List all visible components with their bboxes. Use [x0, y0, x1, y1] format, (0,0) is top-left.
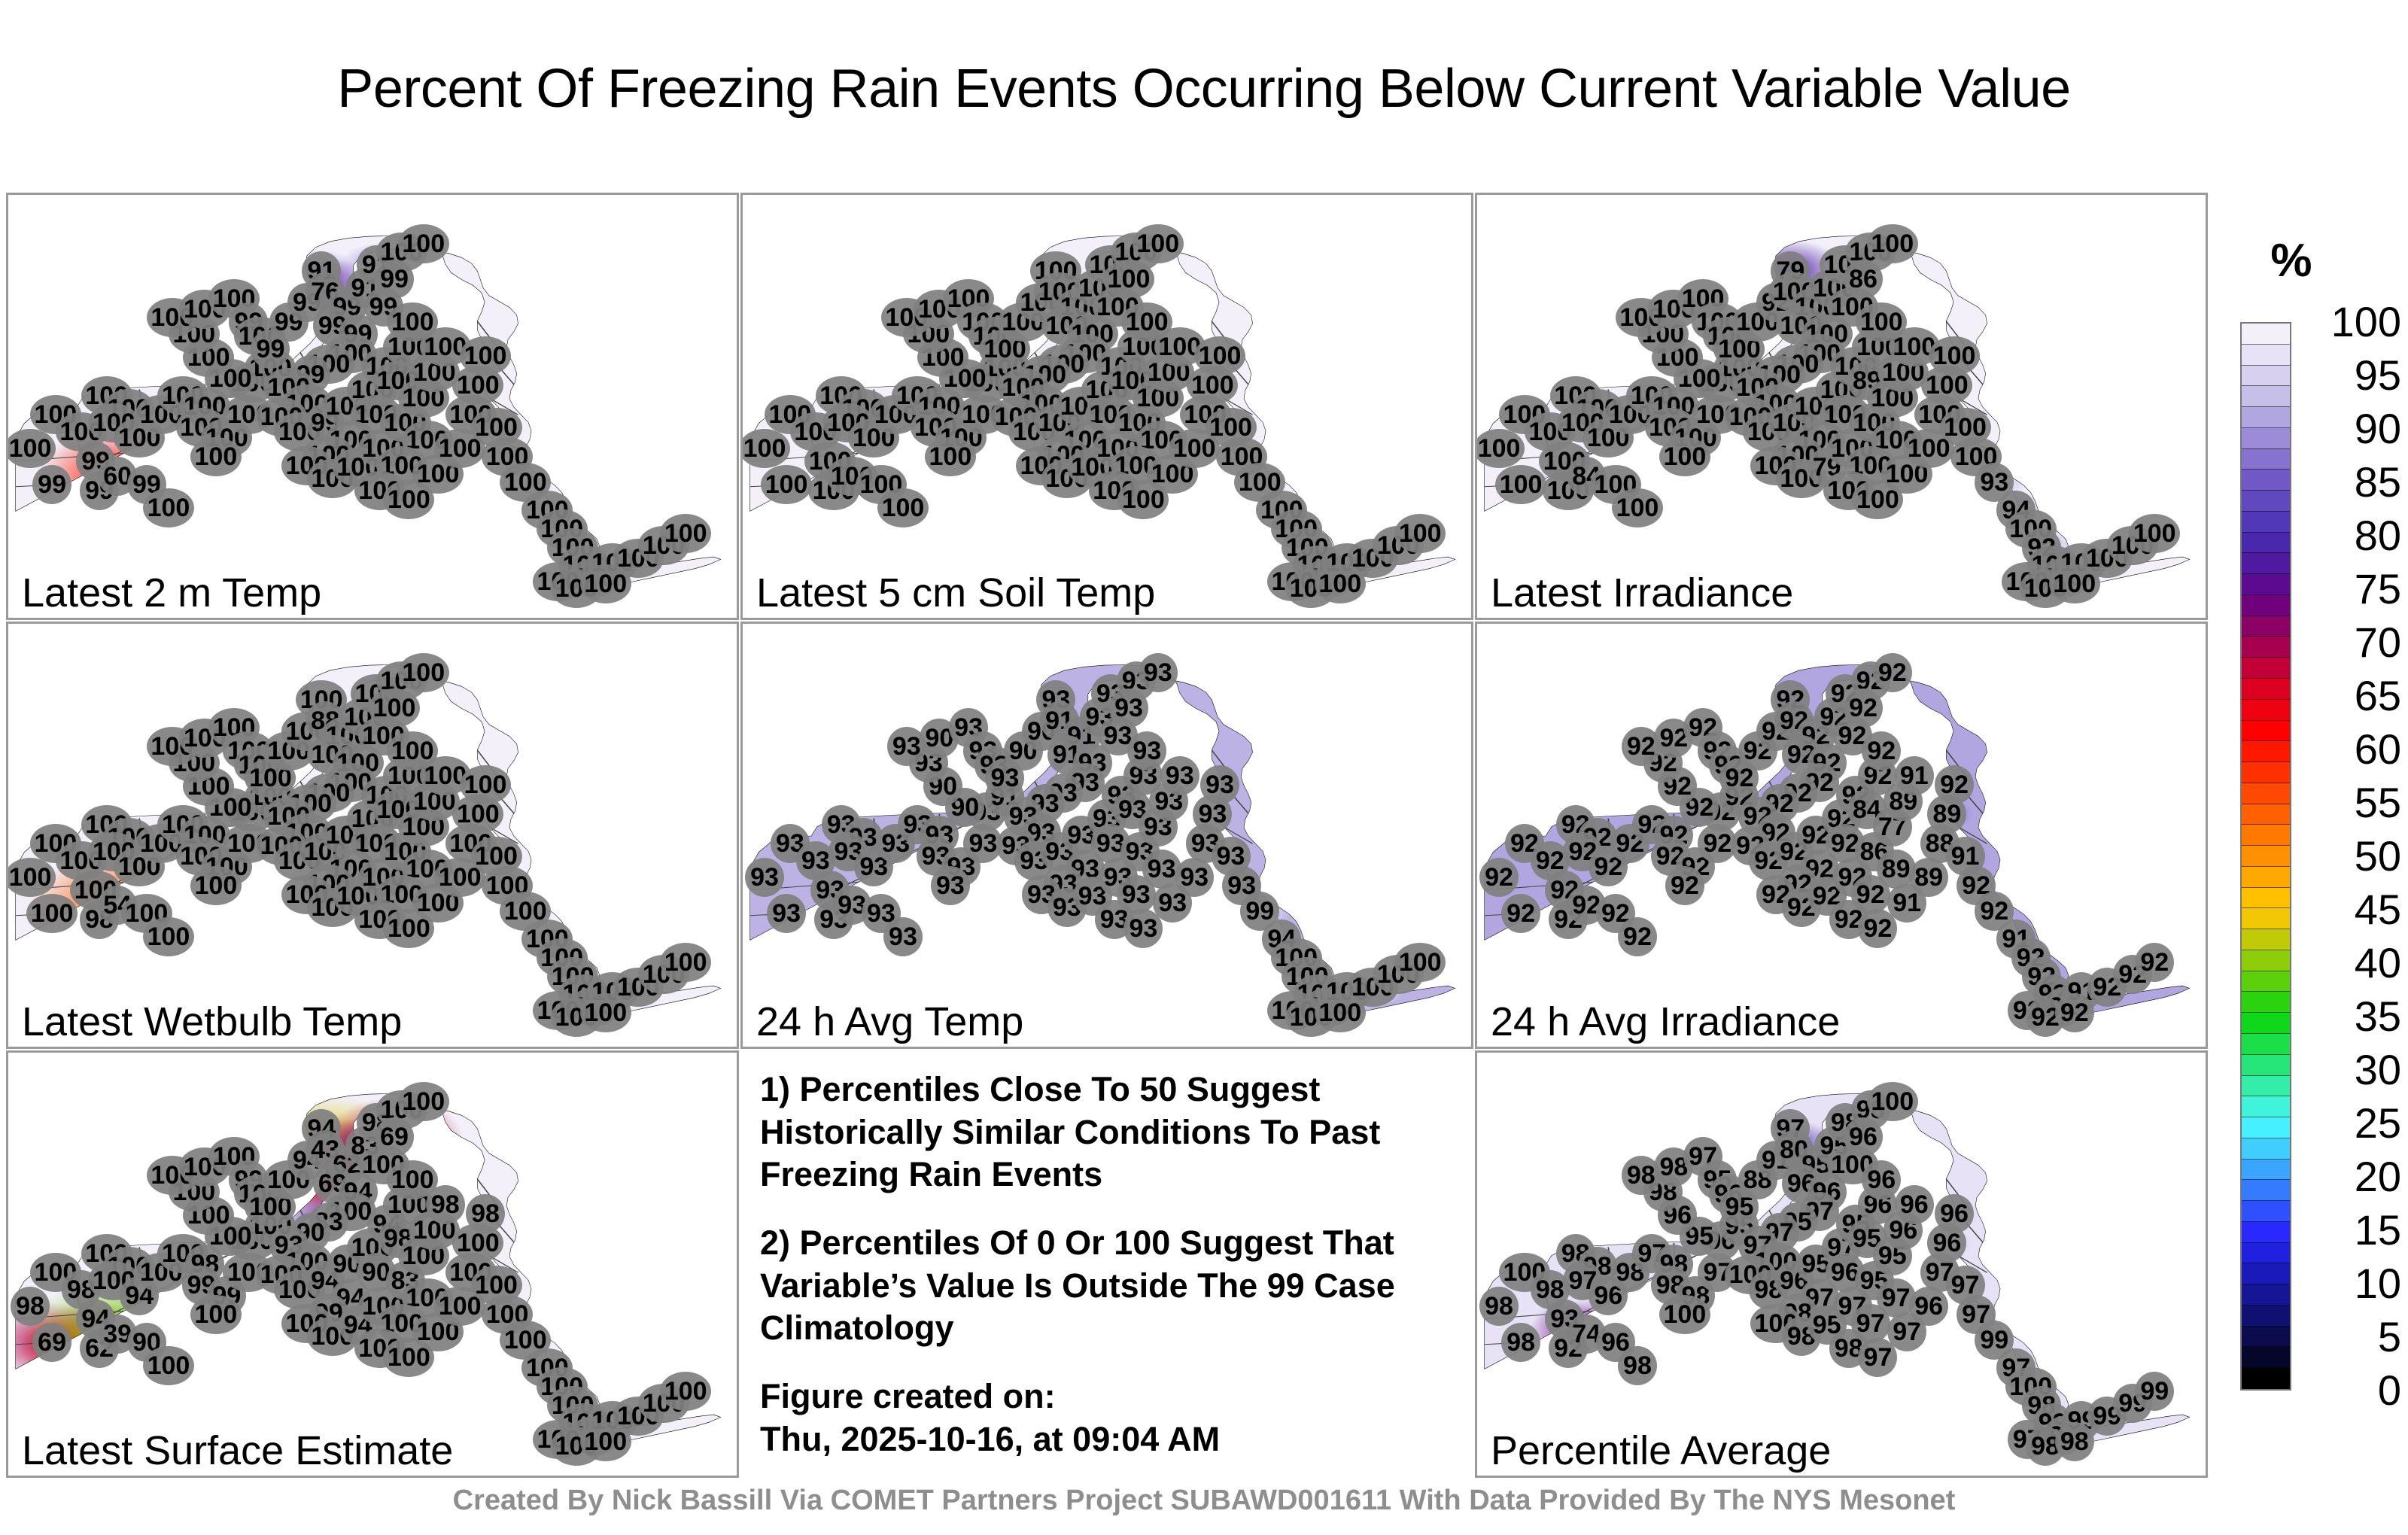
- station-marker[interactable]: 100: [190, 1295, 242, 1334]
- map-canvas: 9393939393939393939393939393939393939393…: [743, 624, 1471, 1047]
- station-marker[interactable]: 100: [660, 943, 711, 982]
- station-marker[interactable]: 100: [1315, 564, 1366, 603]
- station-marker[interactable]: 100: [740, 429, 790, 468]
- colorbar-segment: [2242, 366, 2290, 387]
- station-marker[interactable]: 100: [1495, 465, 1546, 504]
- colorbar-segment: [2242, 992, 2290, 1013]
- panel-title-latest-2m-temp: Latest 2 m Temp: [22, 573, 321, 613]
- station-marker[interactable]: 92: [1618, 917, 1657, 956]
- colorbar-tick: 60: [2355, 728, 2401, 771]
- station-marker[interactable]: 100: [580, 1422, 631, 1461]
- panel-title-latest-irradiance: Latest Irradiance: [1491, 573, 1793, 613]
- colorbar-segment: [2242, 658, 2290, 679]
- station-marker[interactable]: 100: [660, 514, 711, 553]
- colorbar-tick: 100: [2331, 301, 2401, 343]
- station-marker[interactable]: 99: [2135, 1372, 2174, 1411]
- map-canvas: 1001001001001001001001001001001001001001…: [743, 195, 1471, 618]
- panel-title-24h-avg-irradiance: 24 h Avg Irradiance: [1491, 1002, 1840, 1042]
- station-marker[interactable]: 100: [460, 765, 511, 804]
- colorbar-segment: [2242, 1243, 2290, 1264]
- station-marker[interactable]: 98: [466, 1194, 505, 1233]
- colorbar-segment: [2242, 1180, 2290, 1201]
- station-marker[interactable]: 92: [1479, 858, 1519, 897]
- colorbar-segment: [2242, 950, 2290, 971]
- colorbar-segment: [2242, 700, 2290, 721]
- colorbar-tick: 20: [2355, 1156, 2401, 1198]
- figure-created-block: Figure created on: Thu, 2025-10-16, at 0…: [760, 1375, 1455, 1461]
- colorbar-segment: [2242, 1138, 2290, 1160]
- map-panel-latest-5cm-soil-temp[interactable]: 1001001001001001001001001001001001001001…: [740, 193, 1473, 620]
- station-marker[interactable]: 92: [2135, 943, 2174, 982]
- colorbar-segment: [2242, 888, 2290, 909]
- colorbar-tick: 95: [2355, 354, 2401, 397]
- colorbar-segment: [2242, 1160, 2290, 1181]
- colorbar-segment: [2242, 533, 2290, 554]
- colorbar-tick: 65: [2355, 675, 2401, 717]
- map-canvas: 9292929292929292929292929292929292929292…: [1477, 624, 2206, 1047]
- station-marker[interactable]: 93: [1160, 756, 1199, 795]
- station-marker[interactable]: 93: [931, 866, 970, 905]
- colorbar-tick: 50: [2355, 835, 2401, 877]
- station-marker[interactable]: 98: [1618, 1346, 1657, 1385]
- station-marker[interactable]: 100: [26, 894, 78, 933]
- map-panel-percentile-average[interactable]: 9810098989897969897939892749698989898100…: [1475, 1050, 2208, 1478]
- station-marker[interactable]: 100: [1867, 224, 1918, 263]
- map-panel-latest-wetbulb-temp[interactable]: 1001001001001001001001001001001009854100…: [6, 622, 739, 1049]
- note-1: 1) Percentiles Close To 50 Suggest Histo…: [760, 1068, 1455, 1196]
- station-marker[interactable]: 100: [1394, 514, 1446, 553]
- colorbar-tick: 40: [2355, 942, 2401, 984]
- station-marker[interactable]: 100: [1612, 488, 1663, 527]
- figure-root: Percent Of Freezing Rain Events Occurrin…: [0, 0, 2408, 1535]
- colorbar-segment: [2242, 1055, 2290, 1076]
- colorbar-segment: [2242, 1013, 2290, 1034]
- station-marker[interactable]: 100: [143, 1346, 194, 1385]
- station-marker[interactable]: 100: [143, 917, 194, 956]
- colorbar-segment: [2242, 867, 2290, 888]
- station-marker[interactable]: 100: [1659, 1295, 1710, 1334]
- colorbar-tick: 35: [2355, 995, 2401, 1038]
- station-marker[interactable]: 98: [1479, 1287, 1519, 1326]
- station-marker[interactable]: 92: [1665, 866, 1704, 905]
- station-marker[interactable]: 69: [32, 1323, 71, 1362]
- colorbar-segment: [2242, 1034, 2290, 1055]
- colorbar-tick: 90: [2355, 408, 2401, 450]
- map-canvas: 9810098100100100941001009469623990100989…: [8, 1053, 737, 1476]
- colorbar-segment: [2242, 908, 2290, 929]
- station-marker[interactable]: 93: [1175, 858, 1214, 897]
- colorbar-segment: [2242, 491, 2290, 512]
- colorbar-tick: 85: [2355, 461, 2401, 503]
- station-marker[interactable]: 99: [32, 465, 71, 504]
- colorbar-tick: 45: [2355, 889, 2401, 931]
- station-marker[interactable]: 100: [1394, 943, 1446, 982]
- station-marker[interactable]: 93: [1127, 731, 1166, 771]
- colorbar-tick: 75: [2355, 568, 2401, 610]
- colorbar-tick: 80: [2355, 515, 2401, 557]
- colorbar-tick: 0: [2378, 1369, 2401, 1412]
- colorbar-segment: [2242, 825, 2290, 846]
- colorbar-segment: [2242, 721, 2290, 742]
- colorbar-segment: [2242, 679, 2290, 700]
- note-2: 2) Percentiles Of 0 Or 100 Suggest That …: [760, 1222, 1455, 1350]
- station-marker[interactable]: 93: [883, 917, 923, 956]
- notes-block: 1) Percentiles Close To 50 Suggest Histo…: [760, 1068, 1455, 1461]
- created-on-label: Figure created on:: [760, 1377, 1056, 1415]
- station-marker[interactable]: 100: [190, 866, 242, 905]
- station-marker[interactable]: 100: [1475, 429, 1525, 468]
- colorbar-segment: [2242, 929, 2290, 950]
- panel-title-percentile-average: Percentile Average: [1491, 1430, 1831, 1471]
- map-panel-24h-avg-irradiance[interactable]: 9292929292929292929292929292929292929292…: [1475, 622, 2208, 1049]
- colorbar-segment: [2242, 804, 2290, 825]
- station-marker[interactable]: 96: [1909, 1287, 1948, 1326]
- panel-title-latest-wetbulb-temp: Latest Wetbulb Temp: [22, 1002, 402, 1042]
- colorbar-segment: [2242, 449, 2290, 470]
- station-marker[interactable]: 100: [877, 488, 929, 527]
- colorbar-segment: [2242, 1096, 2290, 1117]
- station-marker[interactable]: 100: [1867, 1082, 1918, 1121]
- station-marker[interactable]: 96: [1895, 1185, 1934, 1224]
- station-marker[interactable]: 100: [1659, 437, 1710, 476]
- colorbar-gradient: [2240, 322, 2291, 1391]
- colorbar-tick: 30: [2355, 1049, 2401, 1091]
- station-marker[interactable]: 100: [398, 653, 449, 692]
- colorbar-tick: 25: [2355, 1102, 2401, 1144]
- colorbar-segment: [2242, 1201, 2290, 1222]
- colorbar-tick: 15: [2355, 1209, 2401, 1251]
- colorbar-segment: [2242, 1347, 2290, 1368]
- colorbar-tick-labels: 1009590858075706560555045403530252015105…: [2296, 322, 2407, 1391]
- station-marker[interactable]: 92: [1501, 894, 1540, 933]
- station-marker[interactable]: 100: [6, 858, 56, 897]
- station-marker[interactable]: 100: [143, 488, 194, 527]
- colorbar-unit-label: %: [2246, 238, 2337, 284]
- colorbar-segment: [2242, 553, 2290, 574]
- station-marker[interactable]: 92: [1935, 765, 1974, 804]
- station-marker[interactable]: 91: [1895, 756, 1934, 795]
- map-panel-latest-irradiance[interactable]: 1001001001001001001001001001001001008410…: [1475, 193, 2208, 620]
- colorbar-tick: 55: [2355, 782, 2401, 824]
- station-marker[interactable]: 100: [1929, 336, 1980, 375]
- colorbar-tick: 10: [2355, 1263, 2401, 1305]
- panel-title-24h-avg-temp: 24 h Avg Temp: [756, 1002, 1023, 1042]
- station-marker[interactable]: 100: [2129, 514, 2180, 553]
- station-marker[interactable]: 96: [1935, 1194, 1974, 1233]
- colorbar-segment: [2242, 1076, 2290, 1097]
- station-marker[interactable]: 93: [745, 858, 784, 897]
- panel-title-latest-5cm-soil-temp: Latest 5 cm Soil Temp: [756, 573, 1155, 613]
- station-marker[interactable]: 100: [398, 1082, 449, 1121]
- colorbar-segment: [2242, 1222, 2290, 1243]
- map-canvas: 1001001001001001001001001001001001008410…: [1477, 195, 2206, 618]
- colorbar-segment: [2242, 428, 2290, 449]
- station-marker[interactable]: 100: [398, 224, 449, 263]
- station-marker[interactable]: 93: [1139, 653, 1178, 692]
- colorbar-segment: [2242, 407, 2290, 428]
- panel-title-latest-surface-estimate: Latest Surface Estimate: [22, 1430, 453, 1471]
- colorbar-tick: 70: [2355, 622, 2401, 664]
- colorbar-segment: [2242, 470, 2290, 491]
- colorbar-segment: [2242, 345, 2290, 366]
- colorbar-segment: [2242, 971, 2290, 992]
- colorbar-segment: [2242, 1284, 2290, 1306]
- station-marker[interactable]: 96: [1862, 1160, 1901, 1199]
- station-marker[interactable]: 100: [1315, 993, 1366, 1032]
- colorbar-segment: [2242, 1263, 2290, 1284]
- colorbar-segment: [2242, 386, 2290, 407]
- station-marker[interactable]: 100: [1194, 336, 1245, 375]
- station-marker[interactable]: 89: [1909, 858, 1948, 897]
- station-marker[interactable]: 100: [580, 993, 631, 1032]
- colorbar-tick: 5: [2378, 1316, 2401, 1358]
- station-marker[interactable]: 98: [426, 1185, 465, 1224]
- colorbar-segment: [2242, 846, 2290, 867]
- station-marker[interactable]: 100: [460, 336, 511, 375]
- colorbar-segment: [2242, 616, 2290, 637]
- station-marker[interactable]: 93: [767, 894, 806, 933]
- colorbar-segment: [2242, 1327, 2290, 1348]
- colorbar-segment: [2242, 1368, 2290, 1389]
- colorbar-segment: [2242, 1306, 2290, 1327]
- station-marker[interactable]: 98: [1501, 1323, 1540, 1362]
- station-marker[interactable]: 100: [2049, 564, 2100, 603]
- station-marker[interactable]: 100: [6, 429, 56, 468]
- station-marker[interactable]: 100: [761, 465, 812, 504]
- station-marker[interactable]: 92: [1873, 653, 1912, 692]
- footer-credit: Created By Nick Bassill Via COMET Partne…: [0, 1486, 2408, 1515]
- station-marker[interactable]: 100: [660, 1372, 711, 1411]
- colorbar-segment: [2242, 741, 2290, 762]
- station-marker[interactable]: 98: [2055, 1422, 2094, 1461]
- colorbar-segment: [2242, 783, 2290, 804]
- station-marker[interactable]: 100: [1133, 224, 1184, 263]
- colorbar-segment: [2242, 574, 2290, 595]
- map-panel-latest-surface-estimate[interactable]: 9810098100100100941001009469623990100989…: [6, 1050, 739, 1478]
- colorbar: % 10095908580757065605550454035302520151…: [2224, 193, 2408, 1479]
- station-marker[interactable]: 92: [2055, 993, 2094, 1032]
- colorbar-segment: [2242, 512, 2290, 533]
- station-marker[interactable]: 100: [925, 437, 976, 476]
- map-panel-24h-avg-temp[interactable]: 9393939393939393939393939393939393939393…: [740, 622, 1473, 1049]
- colorbar-segment: [2242, 1117, 2290, 1138]
- station-marker[interactable]: 100: [190, 437, 242, 476]
- colorbar-segment: [2242, 637, 2290, 658]
- map-canvas: 1001001001001001001001001009999996099100…: [8, 195, 737, 618]
- map-canvas: 9810098989897969897939892749698989898100…: [1477, 1053, 2206, 1476]
- station-marker[interactable]: 93: [1200, 765, 1239, 804]
- map-canvas: 1001001001001001001001001001001009854100…: [8, 624, 737, 1047]
- colorbar-segment: [2242, 762, 2290, 783]
- page-title: Percent Of Freezing Rain Events Occurrin…: [0, 62, 2408, 116]
- station-marker[interactable]: 98: [11, 1287, 50, 1326]
- station-marker[interactable]: 92: [1862, 731, 1901, 771]
- colorbar-segment: [2242, 595, 2290, 616]
- colorbar-segment: [2242, 324, 2290, 345]
- created-on-value: Thu, 2025-10-16, at 09:04 AM: [760, 1420, 1220, 1458]
- map-panel-latest-2m-temp[interactable]: 1001001001001001001001001009999996099100…: [6, 193, 739, 620]
- station-marker[interactable]: 100: [580, 564, 631, 603]
